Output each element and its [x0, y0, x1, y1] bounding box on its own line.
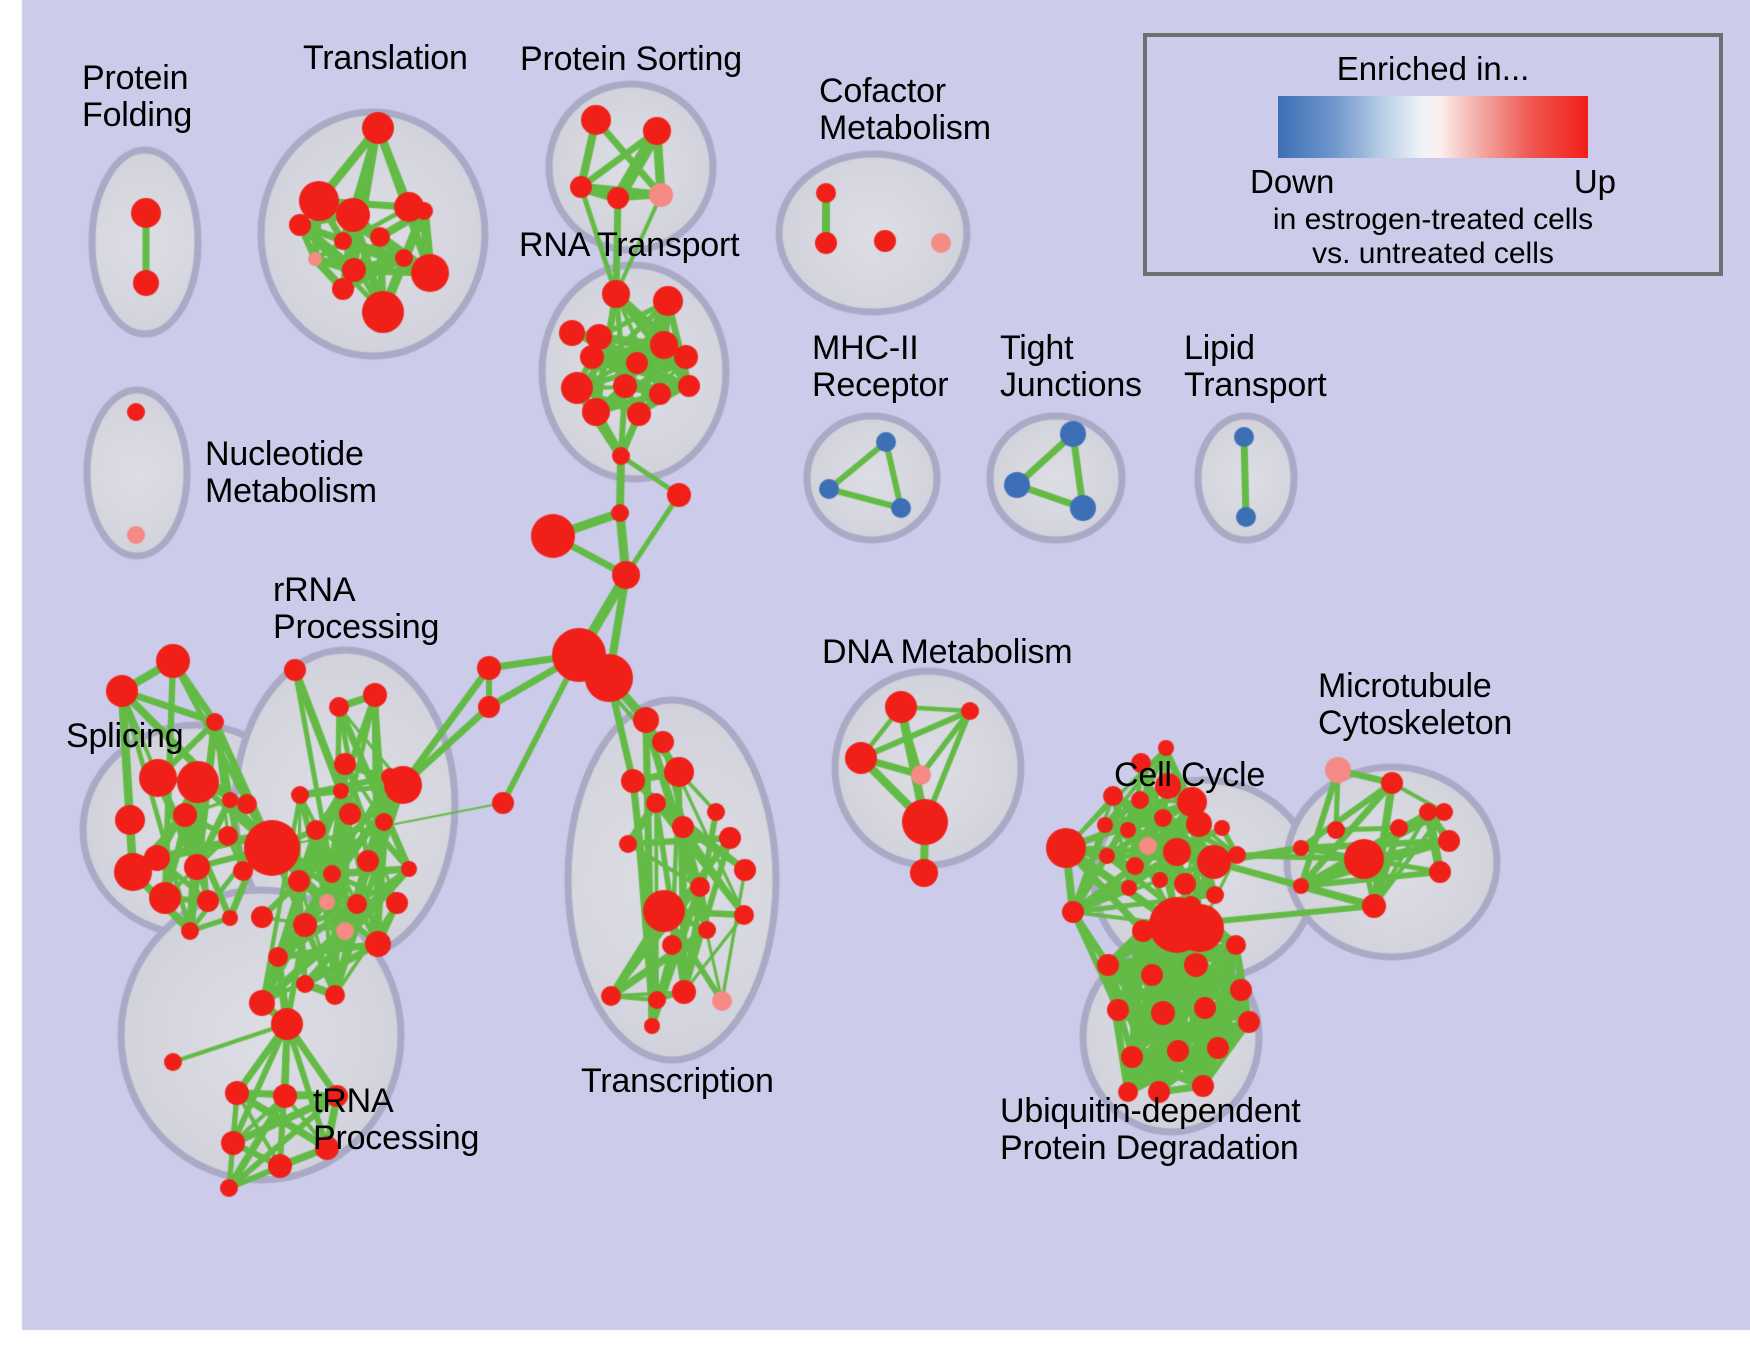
cluster-label-trna-processing: tRNA Processing	[313, 1083, 479, 1156]
cluster-label-nucleotide-metabolism: Nucleotide Metabolism	[205, 436, 377, 509]
cluster-label-tight-junctions: Tight Junctions	[1000, 330, 1142, 403]
legend-box: Enriched in... Down Up in estrogen-treat…	[1143, 33, 1723, 276]
legend-gradient-bar	[1278, 96, 1588, 158]
cluster-label-rna-transport: RNA Transport	[519, 227, 739, 264]
cluster-label-dna-metabolism: DNA Metabolism	[822, 634, 1072, 671]
cluster-label-protein-sorting: Protein Sorting	[520, 41, 742, 78]
cluster-label-translation: Translation	[303, 40, 468, 77]
cluster-label-cell-cycle: Cell Cycle	[1114, 757, 1265, 794]
cluster-label-microtubule-cytoskeleton: Microtubule Cytoskeleton	[1318, 668, 1512, 741]
cluster-label-lipid-transport: Lipid Transport	[1184, 330, 1326, 403]
legend-endpoints: Down Up	[1250, 163, 1616, 201]
cluster-label-cofactor-metabolism: Cofactor Metabolism	[819, 73, 991, 146]
cluster-label-transcription: Transcription	[581, 1063, 774, 1100]
cluster-label-splicing: Splicing	[66, 718, 183, 755]
cluster-label-protein-folding: Protein Folding	[82, 60, 192, 133]
legend-low-label: Down	[1250, 163, 1334, 201]
cluster-label-rrna-processing: rRNA Processing	[273, 572, 439, 645]
legend-title: Enriched in...	[1337, 50, 1530, 88]
legend-subtitle-line2: vs. untreated cells	[1312, 237, 1554, 271]
cluster-label-mhc-ii-receptor: MHC-II Receptor	[812, 330, 948, 403]
network-figure: Enriched in... Down Up in estrogen-treat…	[0, 0, 1750, 1360]
legend-high-label: Up	[1574, 163, 1616, 201]
legend-subtitle-line1: in estrogen-treated cells	[1273, 203, 1593, 237]
cluster-label-ubiquitin-degradation: Ubiquitin-dependent Protein Degradation	[1000, 1093, 1301, 1166]
